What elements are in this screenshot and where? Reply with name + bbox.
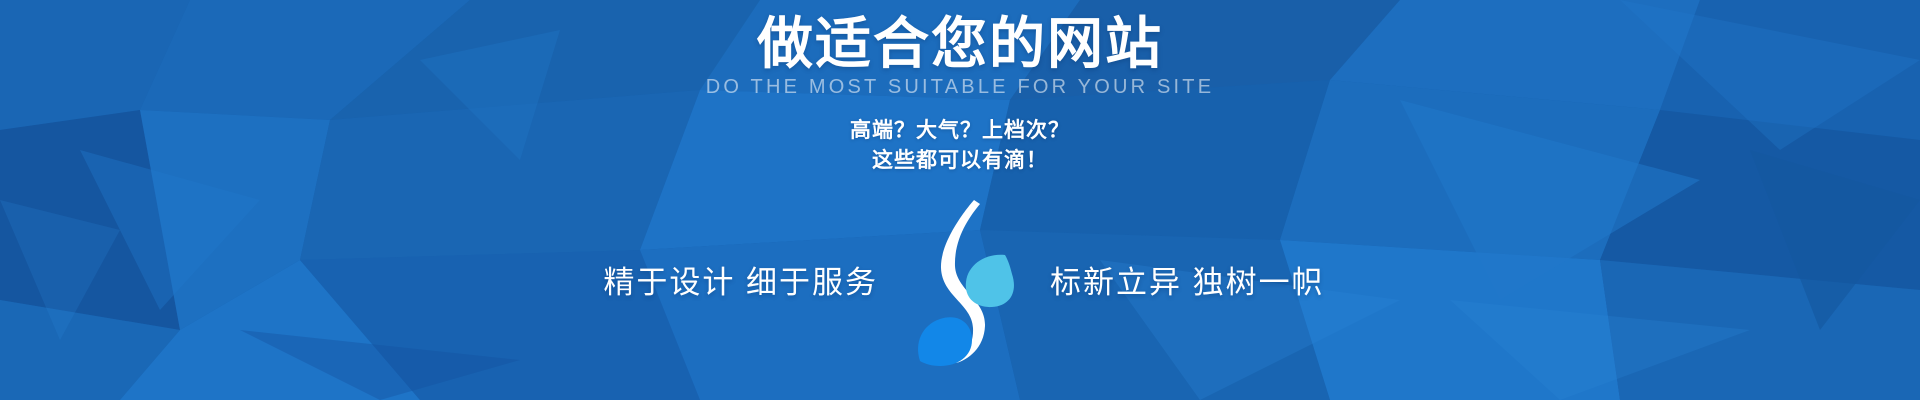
page-title: 做适合您的网站 [757, 14, 1163, 74]
promo-banner: 做适合您的网站 DO THE MOST SUITABLE FOR YOUR SI… [0, 0, 1920, 400]
banner-content: 做适合您的网站 DO THE MOST SUITABLE FOR YOUR SI… [0, 0, 1920, 400]
slogan-left: 精于设计 细于服务 [570, 257, 900, 302]
chinese-subtitle-line-2: 这些都可以有滴！ [872, 146, 1048, 176]
slogan-right: 标新立异 独树一帜 [1020, 257, 1350, 302]
leaf-sprout-logo-icon [900, 192, 1020, 367]
slogan-row: 精于设计 细于服务 标新立异 独树一帜 [570, 192, 1350, 367]
chinese-subtitle-line-1: 高端？大气？上档次？ [850, 116, 1070, 146]
english-subtitle: DO THE MOST SUITABLE FOR YOUR SITE [706, 76, 1215, 99]
